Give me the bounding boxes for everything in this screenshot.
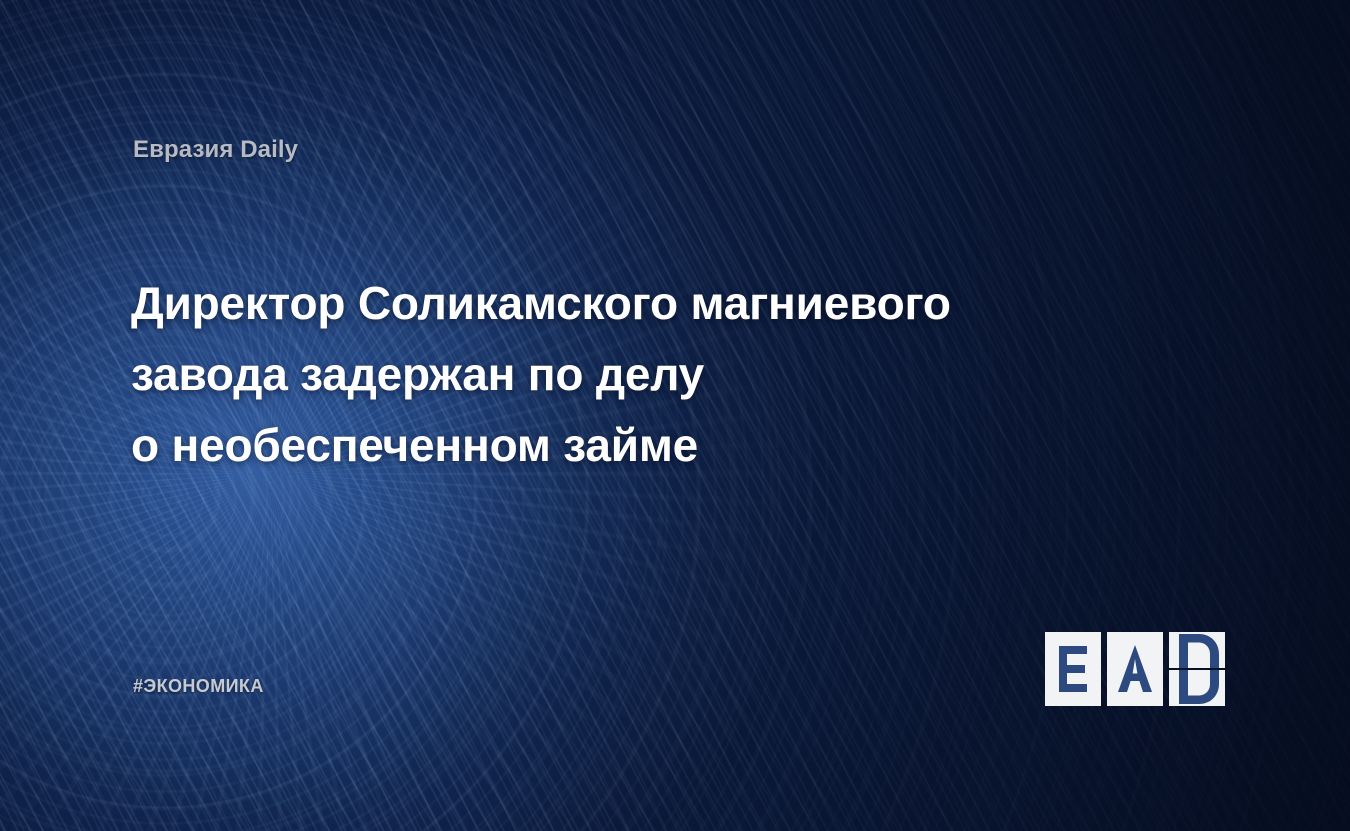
headline-line-2: завода задержан по делу <box>131 339 1091 410</box>
logo-d-upper-half <box>1169 632 1225 668</box>
headline-line-3: о необеспеченном займе <box>131 410 1091 481</box>
headline-line-1: Директор Соликамского магниевого <box>131 268 1091 339</box>
logo-tile-d-split <box>1169 632 1225 706</box>
category-hashtag: #ЭКОНОМИКА <box>133 676 264 697</box>
page-title: Директор Соликамского магниевого завода … <box>131 268 1091 481</box>
letter-d-upper-icon <box>1169 632 1225 668</box>
letter-e-icon <box>1045 632 1101 706</box>
eadaily-logo <box>1045 632 1225 706</box>
logo-tile-a <box>1107 632 1163 706</box>
news-card: Евразия Daily Директор Соликамского магн… <box>0 0 1350 831</box>
letter-d-lower-icon <box>1169 670 1225 706</box>
brand-label: Евразия Daily <box>133 136 298 164</box>
card-content: Евразия Daily Директор Соликамского магн… <box>0 0 1350 831</box>
letter-a-icon <box>1107 632 1163 706</box>
logo-tile-e <box>1045 632 1101 706</box>
logo-d-lower-half <box>1169 670 1225 706</box>
